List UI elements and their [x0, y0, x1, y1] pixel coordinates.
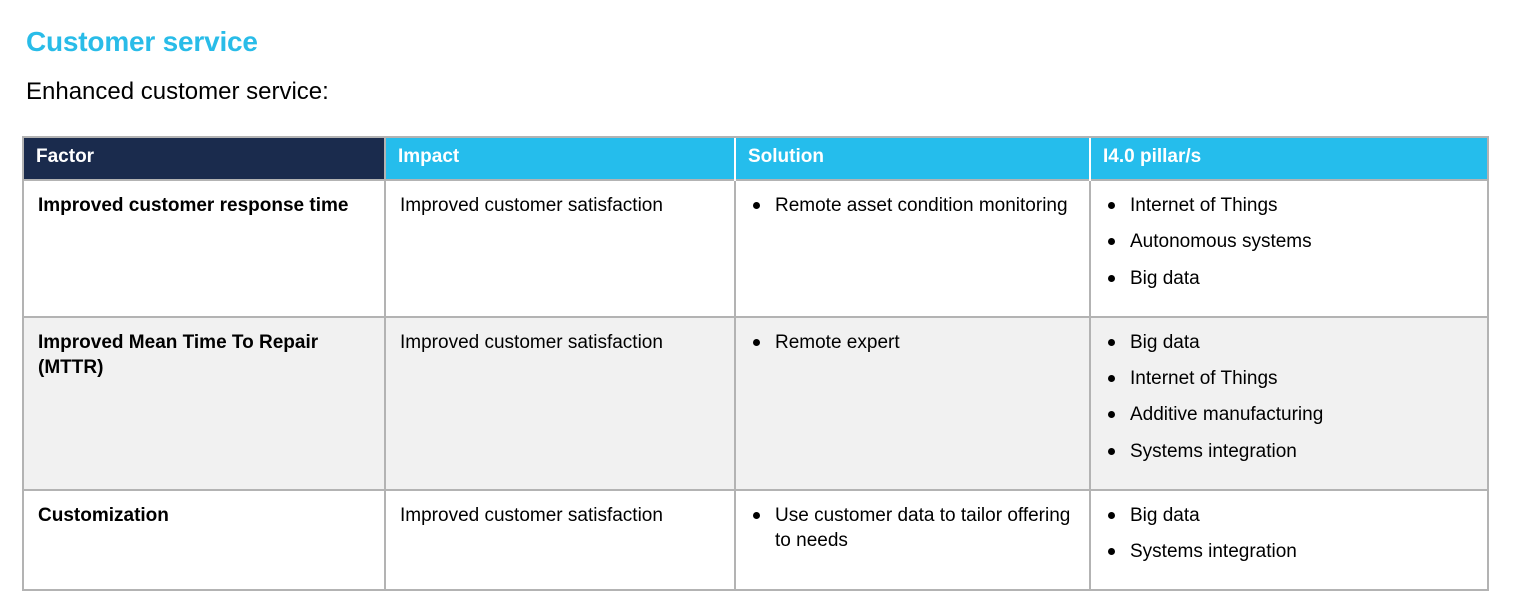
list-item: Use customer data to tailor offering to … — [750, 503, 1075, 554]
list-item: Autonomous systems — [1105, 229, 1473, 254]
cell-impact: Improved customer satisfaction — [385, 180, 735, 317]
cell-solution: Remote asset condition monitoring — [735, 180, 1090, 317]
table-header-row: Factor Impact Solution I4.0 pillar/s — [24, 138, 1487, 180]
list-item: Big data — [1105, 266, 1473, 291]
cell-impact: Improved customer satisfaction — [385, 490, 735, 590]
cell-solution: Remote expert — [735, 317, 1090, 490]
table-row: Improved customer response time Improved… — [24, 180, 1487, 317]
list-item: Internet of Things — [1105, 366, 1473, 391]
column-header-solution: Solution — [735, 138, 1090, 180]
list-item: Remote asset condition monitoring — [750, 193, 1075, 218]
list-item: Systems integration — [1105, 539, 1473, 564]
cell-pillars: Internet of Things Autonomous systems Bi… — [1090, 180, 1487, 317]
list-item: Systems integration — [1105, 439, 1473, 464]
pillars-bullet-list: Big data Internet of Things Additive man… — [1105, 330, 1473, 464]
cell-factor: Improved Mean Time To Repair (MTTR) — [24, 317, 385, 490]
cell-pillars: Big data Internet of Things Additive man… — [1090, 317, 1487, 490]
column-header-factor: Factor — [24, 138, 385, 180]
solution-bullet-list: Use customer data to tailor offering to … — [750, 503, 1075, 554]
customer-service-table-container: Factor Impact Solution I4.0 pillar/s Imp… — [22, 136, 1489, 591]
column-header-pillars: I4.0 pillar/s — [1090, 138, 1487, 180]
list-item: Big data — [1105, 503, 1473, 528]
table-row: Customization Improved customer satisfac… — [24, 490, 1487, 590]
page-title: Customer service — [26, 27, 258, 58]
cell-pillars: Big data Systems integration — [1090, 490, 1487, 590]
cell-factor: Improved customer response time — [24, 180, 385, 317]
table-body: Improved customer response time Improved… — [24, 180, 1487, 589]
solution-bullet-list: Remote asset condition monitoring — [750, 193, 1075, 218]
list-item: Additive manufacturing — [1105, 402, 1473, 427]
list-item: Big data — [1105, 330, 1473, 355]
cell-solution: Use customer data to tailor offering to … — [735, 490, 1090, 590]
solution-bullet-list: Remote expert — [750, 330, 1075, 355]
cell-impact: Improved customer satisfaction — [385, 317, 735, 490]
page-subtitle: Enhanced customer service: — [26, 78, 329, 107]
customer-service-table: Factor Impact Solution I4.0 pillar/s Imp… — [24, 138, 1487, 589]
table-header: Factor Impact Solution I4.0 pillar/s — [24, 138, 1487, 180]
list-item: Remote expert — [750, 330, 1075, 355]
slide-page: Customer service Enhanced customer servi… — [0, 0, 1530, 568]
list-item: Internet of Things — [1105, 193, 1473, 218]
table-row: Improved Mean Time To Repair (MTTR) Impr… — [24, 317, 1487, 490]
pillars-bullet-list: Internet of Things Autonomous systems Bi… — [1105, 193, 1473, 291]
pillars-bullet-list: Big data Systems integration — [1105, 503, 1473, 565]
cell-factor: Customization — [24, 490, 385, 590]
column-header-impact: Impact — [385, 138, 735, 180]
